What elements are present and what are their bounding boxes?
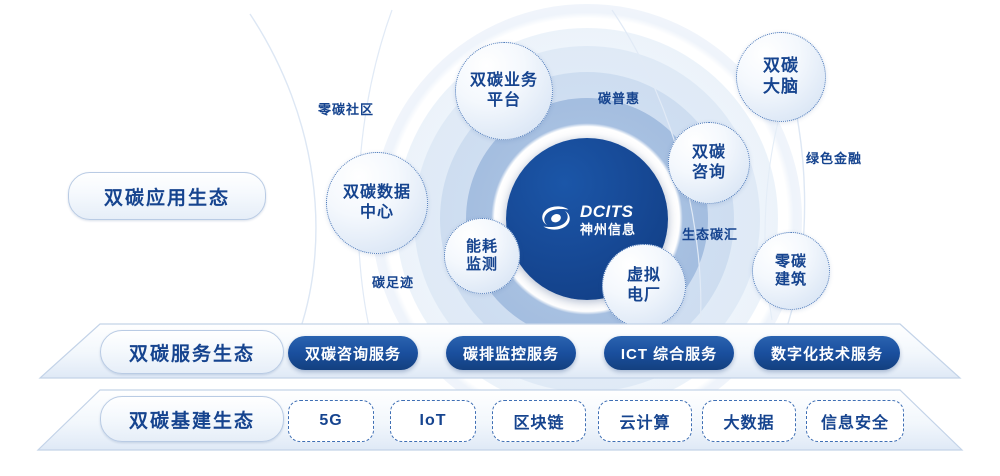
bubble-label-line1: 双碳 (763, 56, 799, 77)
bubble-label-line1: 双碳数据 (343, 183, 411, 203)
bubble-label-line2: 监测 (466, 256, 498, 274)
diagram-canvas: DCITS 神州信息 双碳业务平台双碳大脑双碳数据中心双碳咨询能耗监测虚拟电厂零… (0, 0, 1000, 476)
row-label-application-text: 双碳应用生态 (104, 183, 230, 210)
bubble-label: 零碳建筑 (775, 253, 807, 290)
bubble-label-line1: 能耗 (466, 238, 498, 256)
bubble-label-line1: 零碳 (775, 253, 807, 271)
floating-label-green-finance: 绿色金融 (806, 148, 862, 167)
floating-label-zero-carbon-community: 零碳社区 (318, 99, 374, 118)
bubble-label-line1: 双碳业务 (470, 71, 538, 91)
bubble-data-center[interactable]: 双碳数据中心 (326, 152, 428, 254)
bubble-label: 双碳数据中心 (343, 183, 411, 222)
service-pill-digital-tech[interactable]: 数字化技术服务 (754, 336, 900, 370)
bubble-label-line1: 虚拟 (627, 266, 661, 286)
infra-pill-bigdata[interactable]: 大数据 (702, 400, 796, 442)
bubble-label: 双碳业务平台 (470, 71, 538, 110)
bubble-label: 能耗监测 (466, 238, 498, 275)
bubble-label-line2: 平台 (470, 91, 538, 111)
infra-pill-iot[interactable]: IoT (390, 400, 476, 442)
bubble-consulting[interactable]: 双碳咨询 (668, 122, 750, 204)
bubble-label-line2: 电厂 (627, 286, 661, 306)
service-pill-ict-service[interactable]: ICT 综合服务 (604, 336, 734, 370)
bubble-virtual-plant[interactable]: 虚拟电厂 (602, 244, 686, 328)
logo-wordmark-cn: 神州信息 (580, 223, 636, 236)
row-label-service-text: 双碳服务生态 (129, 339, 255, 366)
bubble-energy-monitor[interactable]: 能耗监测 (444, 218, 520, 294)
service-pill-consulting-service[interactable]: 双碳咨询服务 (288, 336, 418, 370)
row-label-application: 双碳应用生态 (68, 172, 266, 220)
bubble-label-line2: 咨询 (692, 163, 726, 183)
floating-label-eco-carbon-sink: 生态碳汇 (682, 224, 738, 243)
infra-pill-blockchain[interactable]: 区块链 (492, 400, 586, 442)
bubble-brain[interactable]: 双碳大脑 (736, 32, 826, 122)
infra-pill-5g[interactable]: 5G (288, 400, 374, 442)
infra-pill-cloud[interactable]: 云计算 (598, 400, 692, 442)
bubble-zero-building[interactable]: 零碳建筑 (752, 232, 830, 310)
bubble-label-line2: 建筑 (775, 271, 807, 289)
dcits-swoosh-icon (538, 202, 574, 236)
bubble-label-line2: 中心 (343, 203, 411, 223)
service-pill-emission-monitor[interactable]: 碳排监控服务 (446, 336, 576, 370)
logo-wordmark-en: DCITS (580, 203, 636, 220)
infra-pill-security[interactable]: 信息安全 (806, 400, 904, 442)
bubble-label-line1: 双碳 (692, 143, 726, 163)
bubble-label: 双碳咨询 (692, 143, 726, 182)
bubble-label-line2: 大脑 (763, 77, 799, 98)
bubble-label: 双碳大脑 (763, 56, 799, 97)
row-label-infrastructure: 双碳基建生态 (100, 396, 284, 442)
bubble-label: 虚拟电厂 (627, 266, 661, 305)
row-label-service: 双碳服务生态 (100, 330, 284, 374)
bubble-biz-platform[interactable]: 双碳业务平台 (455, 42, 553, 140)
floating-label-carbon-footprint: 碳足迹 (372, 272, 414, 291)
row-label-infrastructure-text: 双碳基建生态 (129, 406, 255, 433)
floating-label-carbon-inclusive: 碳普惠 (598, 88, 640, 107)
